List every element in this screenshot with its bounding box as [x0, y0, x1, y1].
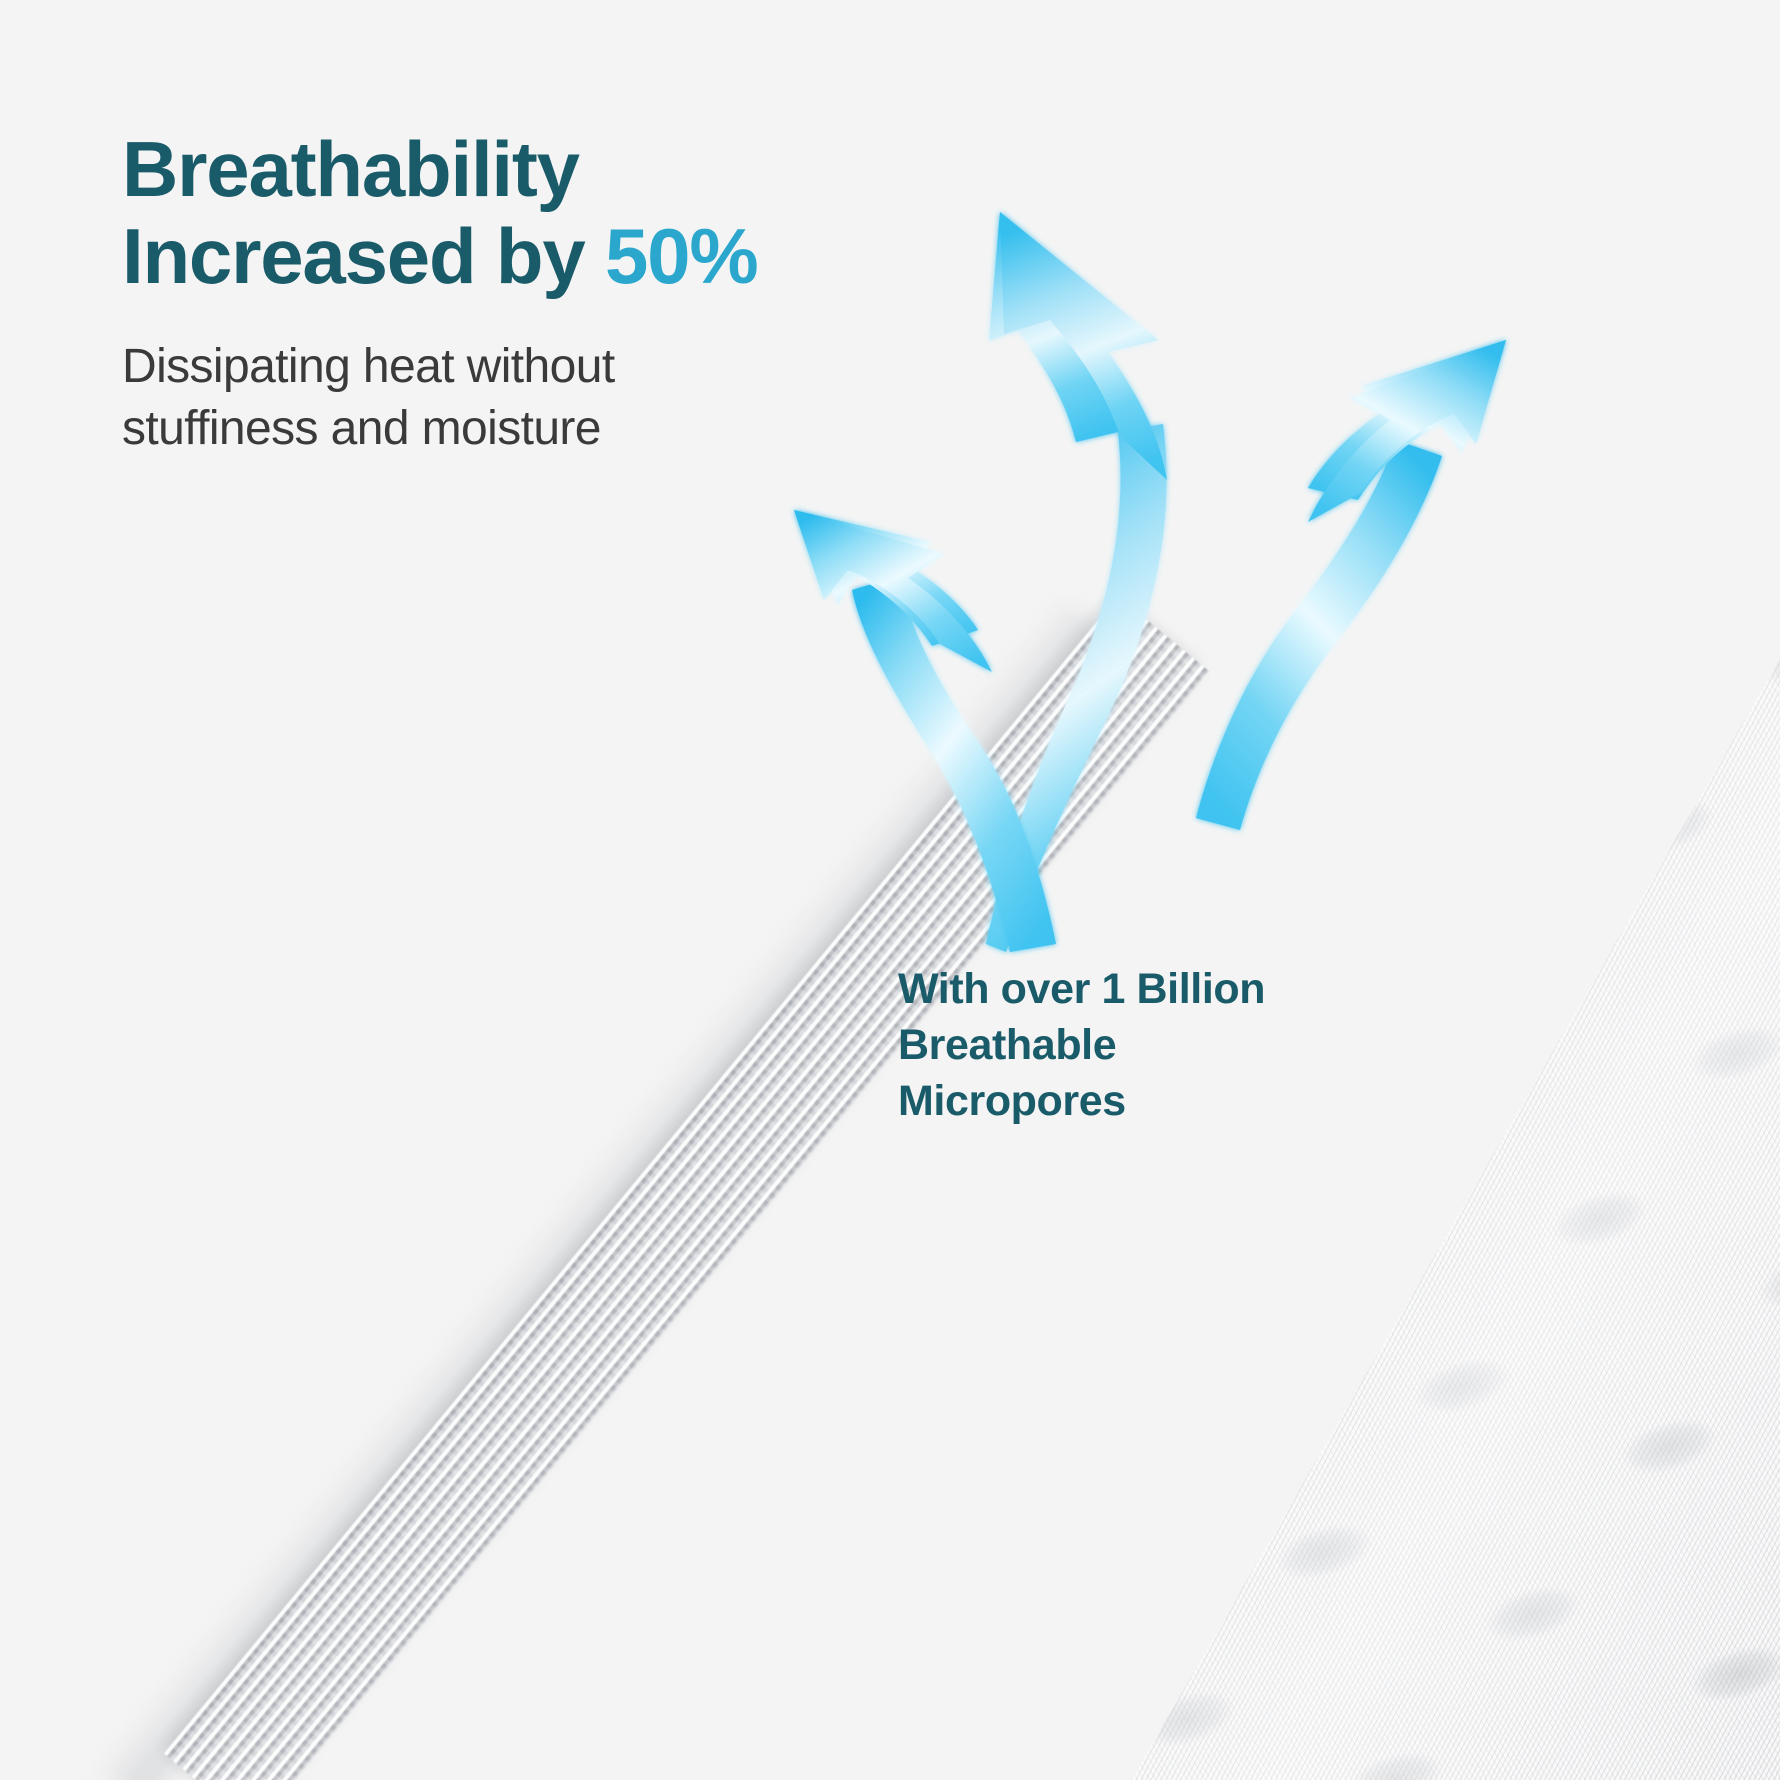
- infographic-canvas: Breathability Increased by 50% Dissipati…: [0, 0, 1780, 1780]
- headline-accent-percentage: 50%: [605, 212, 758, 300]
- headline: Breathability Increased by 50%: [122, 126, 1002, 299]
- headline-line-1: Breathability: [122, 125, 579, 213]
- headline-line-2-prefix: Increased by: [122, 212, 605, 300]
- micropores-caption: With over 1 Billion Breathable Micropore…: [898, 962, 1318, 1130]
- subheadline-line-2: stuffiness and moisture: [122, 402, 601, 455]
- caption-line-2: Breathable: [898, 1018, 1318, 1074]
- caption-line-3: Micropores: [898, 1074, 1318, 1130]
- fabric-crest-highlight: [0, 560, 1780, 820]
- subheadline-line-1: Dissipating heat without: [122, 340, 615, 393]
- subheadline: Dissipating heat without stuffiness and …: [122, 336, 822, 461]
- caption-line-1: With over 1 Billion: [898, 962, 1318, 1018]
